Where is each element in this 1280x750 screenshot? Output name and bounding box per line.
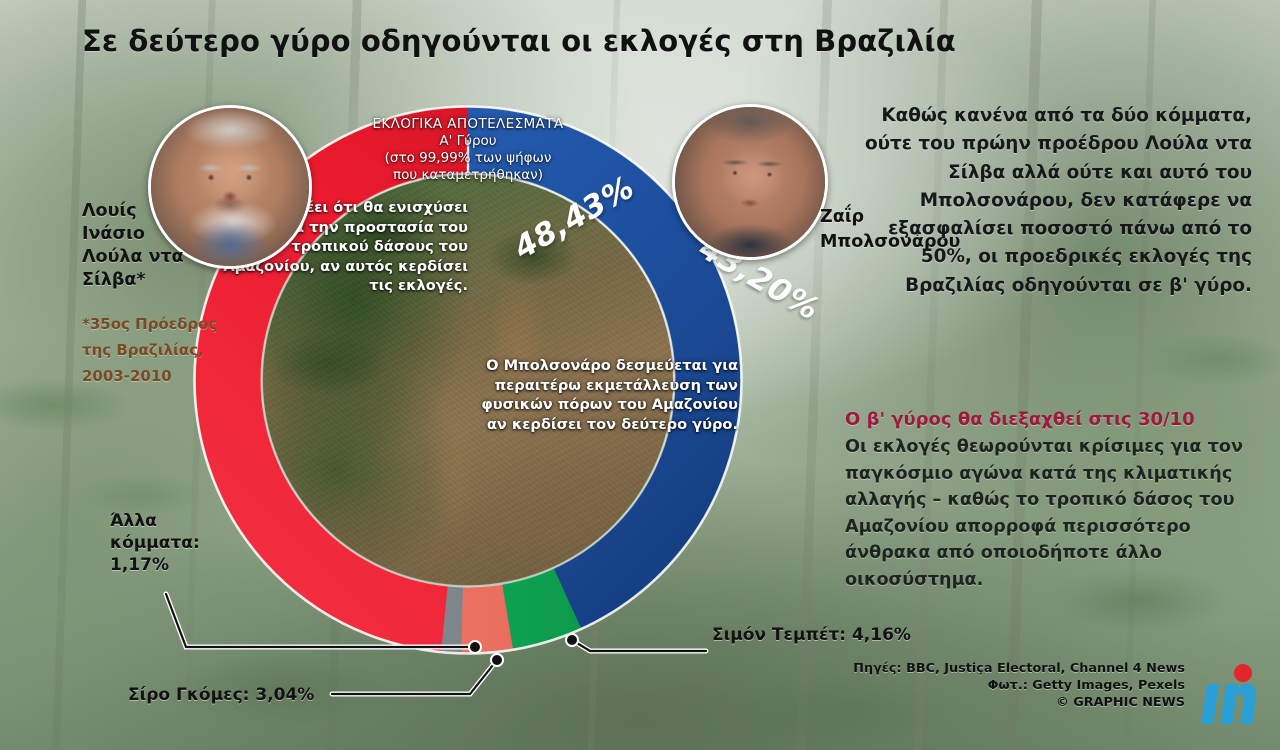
lula-subtitle-label: *35ος Πρόεδρος της Βραζιλίας, 2003-2010 [82,311,218,389]
climate-paragraph: Οι εκλογές θεωρούνται κρίσιμες για τον π… [845,434,1257,594]
in-logo[interactable] [1196,662,1266,728]
copyright-line: © GRAPHIC NEWS [853,694,1185,711]
infographic-canvas: Σε δεύτερο γύρο οδηγούνται οι εκλογές στ… [0,0,1280,750]
logo-red-dot [1234,664,1252,682]
logo-letter-i [1201,684,1219,724]
callout-other-parties: Άλλα κόμματα: 1,17% [110,510,240,576]
bolsonaro-portrait-image [675,107,825,257]
page-title: Σε δεύτερο γύρο οδηγούνται οι εκλογές στ… [82,24,956,58]
sources-line: Πηγές: BBC, Justiça Electoral, Channel 4… [853,660,1185,677]
bolsonaro-photo [672,104,828,260]
logo-letter-n [1220,684,1258,724]
runoff-explanation-paragraph: Καθώς κανένα από τα δύο κόμματα, ούτε το… [854,102,1252,300]
photo-credit-line: Φωτ.: Getty Images, Pexels [853,677,1185,694]
callout-tebet: Σιμόν Τεμπέτ: 4,16% [712,624,911,646]
sources-block: Πηγές: BBC, Justiça Electoral, Channel 4… [853,660,1185,711]
second-round-headline: Ο β' γύρος θα διεξαχθεί στις 30/10 [845,409,1250,430]
lula-name-label: Λουίς Ινάσιο Λούλα ντα Σίλβα* [82,200,202,292]
callout-gomes: Σίρο Γκόμες: 3,04% [128,684,314,706]
bolsonaro-statement: Ο Μπολσονάρο δεσμεύεται για περαιτέρω εκ… [468,356,738,434]
